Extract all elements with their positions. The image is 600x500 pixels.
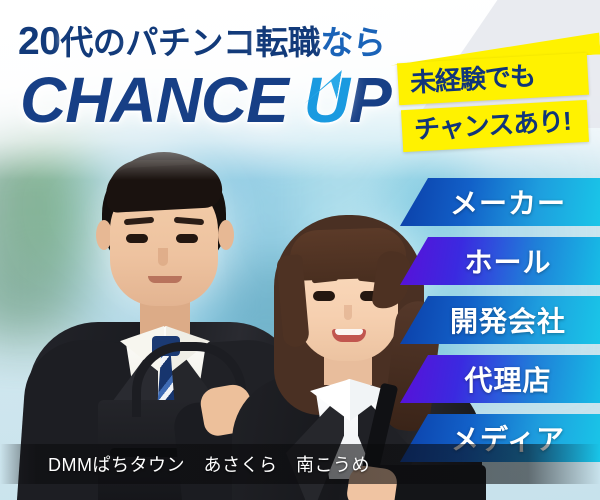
recruitment-banner: 20代のパチンコ転職なら CHANCEUP 未経験でも チャンスあり! メーカー…	[0, 0, 600, 500]
headline-tenshoku: 転職	[255, 24, 320, 61]
category-button-agency[interactable]: 代理店	[400, 355, 600, 403]
category-list: メーカー ホール 開発会社 代理店 メディア	[400, 178, 600, 473]
logo-letter-u: U	[304, 64, 349, 136]
headline: 20代のパチンコ転職なら	[18, 16, 385, 64]
category-label: 代理店	[464, 359, 551, 399]
headline-nara: なら	[320, 24, 385, 61]
category-button-development-company[interactable]: 開発会社	[400, 296, 600, 344]
category-label: 開発会社	[450, 300, 566, 340]
headline-number: 20	[18, 20, 60, 63]
category-label: ホール	[464, 241, 551, 281]
headline-daino: 代の	[60, 24, 125, 61]
category-label: メーカー	[450, 182, 566, 222]
caption-text: DMMぱちタウン あさくら 南こうめ	[48, 451, 370, 477]
badge-line-2: チャンスあり!	[401, 100, 589, 152]
logo-word-chance: CHANCE	[20, 64, 288, 136]
category-button-hall[interactable]: ホール	[400, 237, 600, 285]
category-button-maker[interactable]: メーカー	[400, 178, 600, 226]
badge-line-1: 未経験でも	[397, 53, 589, 106]
badge-no-experience: 未経験でも チャンスあり!	[398, 58, 588, 147]
logo-letter-p: P	[349, 64, 391, 136]
caption-band: DMMぱちタウン あさくら 南こうめ	[0, 444, 600, 484]
headline-pachinko: パチンコ	[125, 24, 255, 61]
